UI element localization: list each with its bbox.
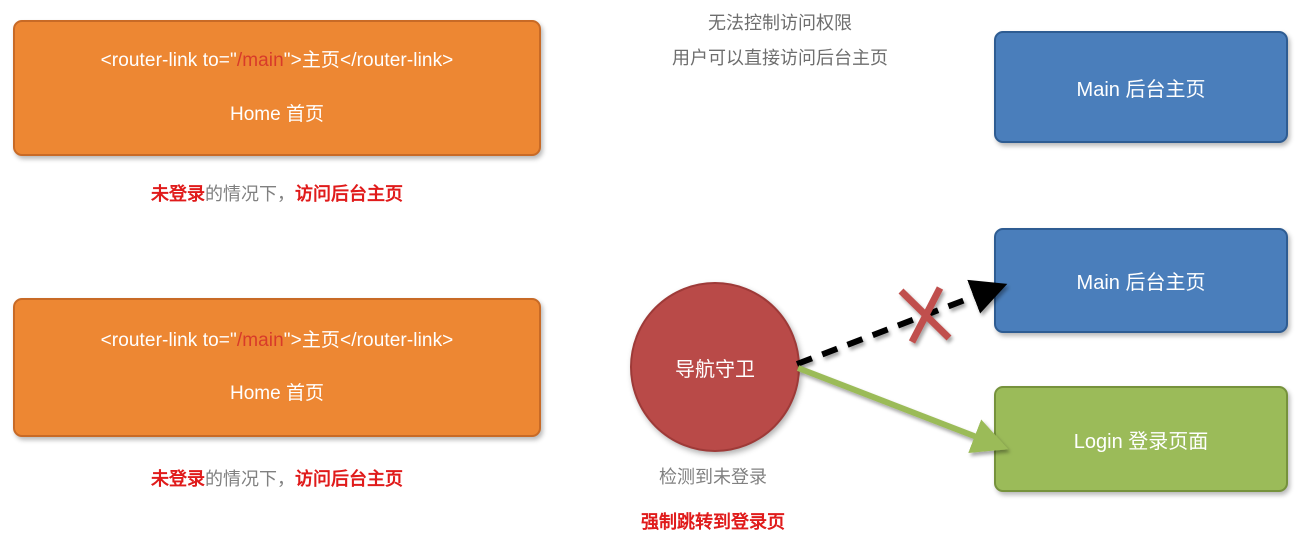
navigation-guard-node: 导航守卫 bbox=[630, 282, 800, 452]
edge-label-top-line2: 用户可以直接访问后台主页 bbox=[620, 44, 940, 70]
caption-bottom-part3: 访问后台主页 bbox=[295, 469, 403, 489]
code-prefix: <router-link to=" bbox=[101, 50, 237, 71]
diagram-canvas: <router-link to="/main">主页</router-link>… bbox=[0, 0, 1296, 543]
cross-mark-icon bbox=[901, 288, 949, 342]
caption-top-part2: 的情况下， bbox=[205, 184, 295, 204]
main-node-top-label: Main 后台主页 bbox=[1077, 73, 1206, 102]
caption-bottom-part1: 未登录 bbox=[151, 469, 205, 489]
home-node-bottom: <router-link to="/main">主页</router-link>… bbox=[13, 298, 541, 437]
navigation-guard-label: 导航守卫 bbox=[675, 353, 755, 382]
caption-top: 未登录的情况下，访问后台主页 bbox=[13, 180, 541, 206]
home-node-subtitle-bottom: Home 首页 bbox=[230, 378, 324, 405]
router-link-code-bottom: <router-link to="/main">主页</router-link> bbox=[101, 330, 454, 353]
main-node-bottom: Main 后台主页 bbox=[994, 228, 1288, 333]
code-prefix: <router-link to=" bbox=[101, 330, 237, 351]
caption-bottom: 未登录的情况下，访问后台主页 bbox=[13, 465, 541, 491]
caption-top-part1: 未登录 bbox=[151, 184, 205, 204]
code-path: /main bbox=[237, 330, 284, 351]
code-suffix: ">主页</router-link> bbox=[284, 50, 454, 71]
arrow-guard-to-login-allowed bbox=[798, 368, 987, 441]
code-path: /main bbox=[237, 50, 284, 71]
login-node: Login 登录页面 bbox=[994, 386, 1288, 492]
caption-top-part3: 访问后台主页 bbox=[295, 184, 403, 204]
main-node-bottom-label: Main 后台主页 bbox=[1077, 266, 1206, 295]
home-node-subtitle-top: Home 首页 bbox=[230, 99, 324, 126]
edge-label-top-line1: 无法控制访问权限 bbox=[620, 9, 940, 35]
caption-bottom-part2: 的情况下， bbox=[205, 469, 295, 489]
guard-caption-detected: 检测到未登录 bbox=[593, 463, 833, 489]
home-node-top: <router-link to="/main">主页</router-link>… bbox=[13, 20, 541, 156]
code-suffix: ">主页</router-link> bbox=[284, 330, 454, 351]
login-node-label: Login 登录页面 bbox=[1074, 425, 1209, 454]
main-node-top: Main 后台主页 bbox=[994, 31, 1288, 143]
router-link-code-top: <router-link to="/main">主页</router-link> bbox=[101, 50, 454, 73]
arrow-guard-to-main-blocked bbox=[797, 292, 986, 364]
guard-caption-redirect: 强制跳转到登录页 bbox=[593, 508, 833, 534]
